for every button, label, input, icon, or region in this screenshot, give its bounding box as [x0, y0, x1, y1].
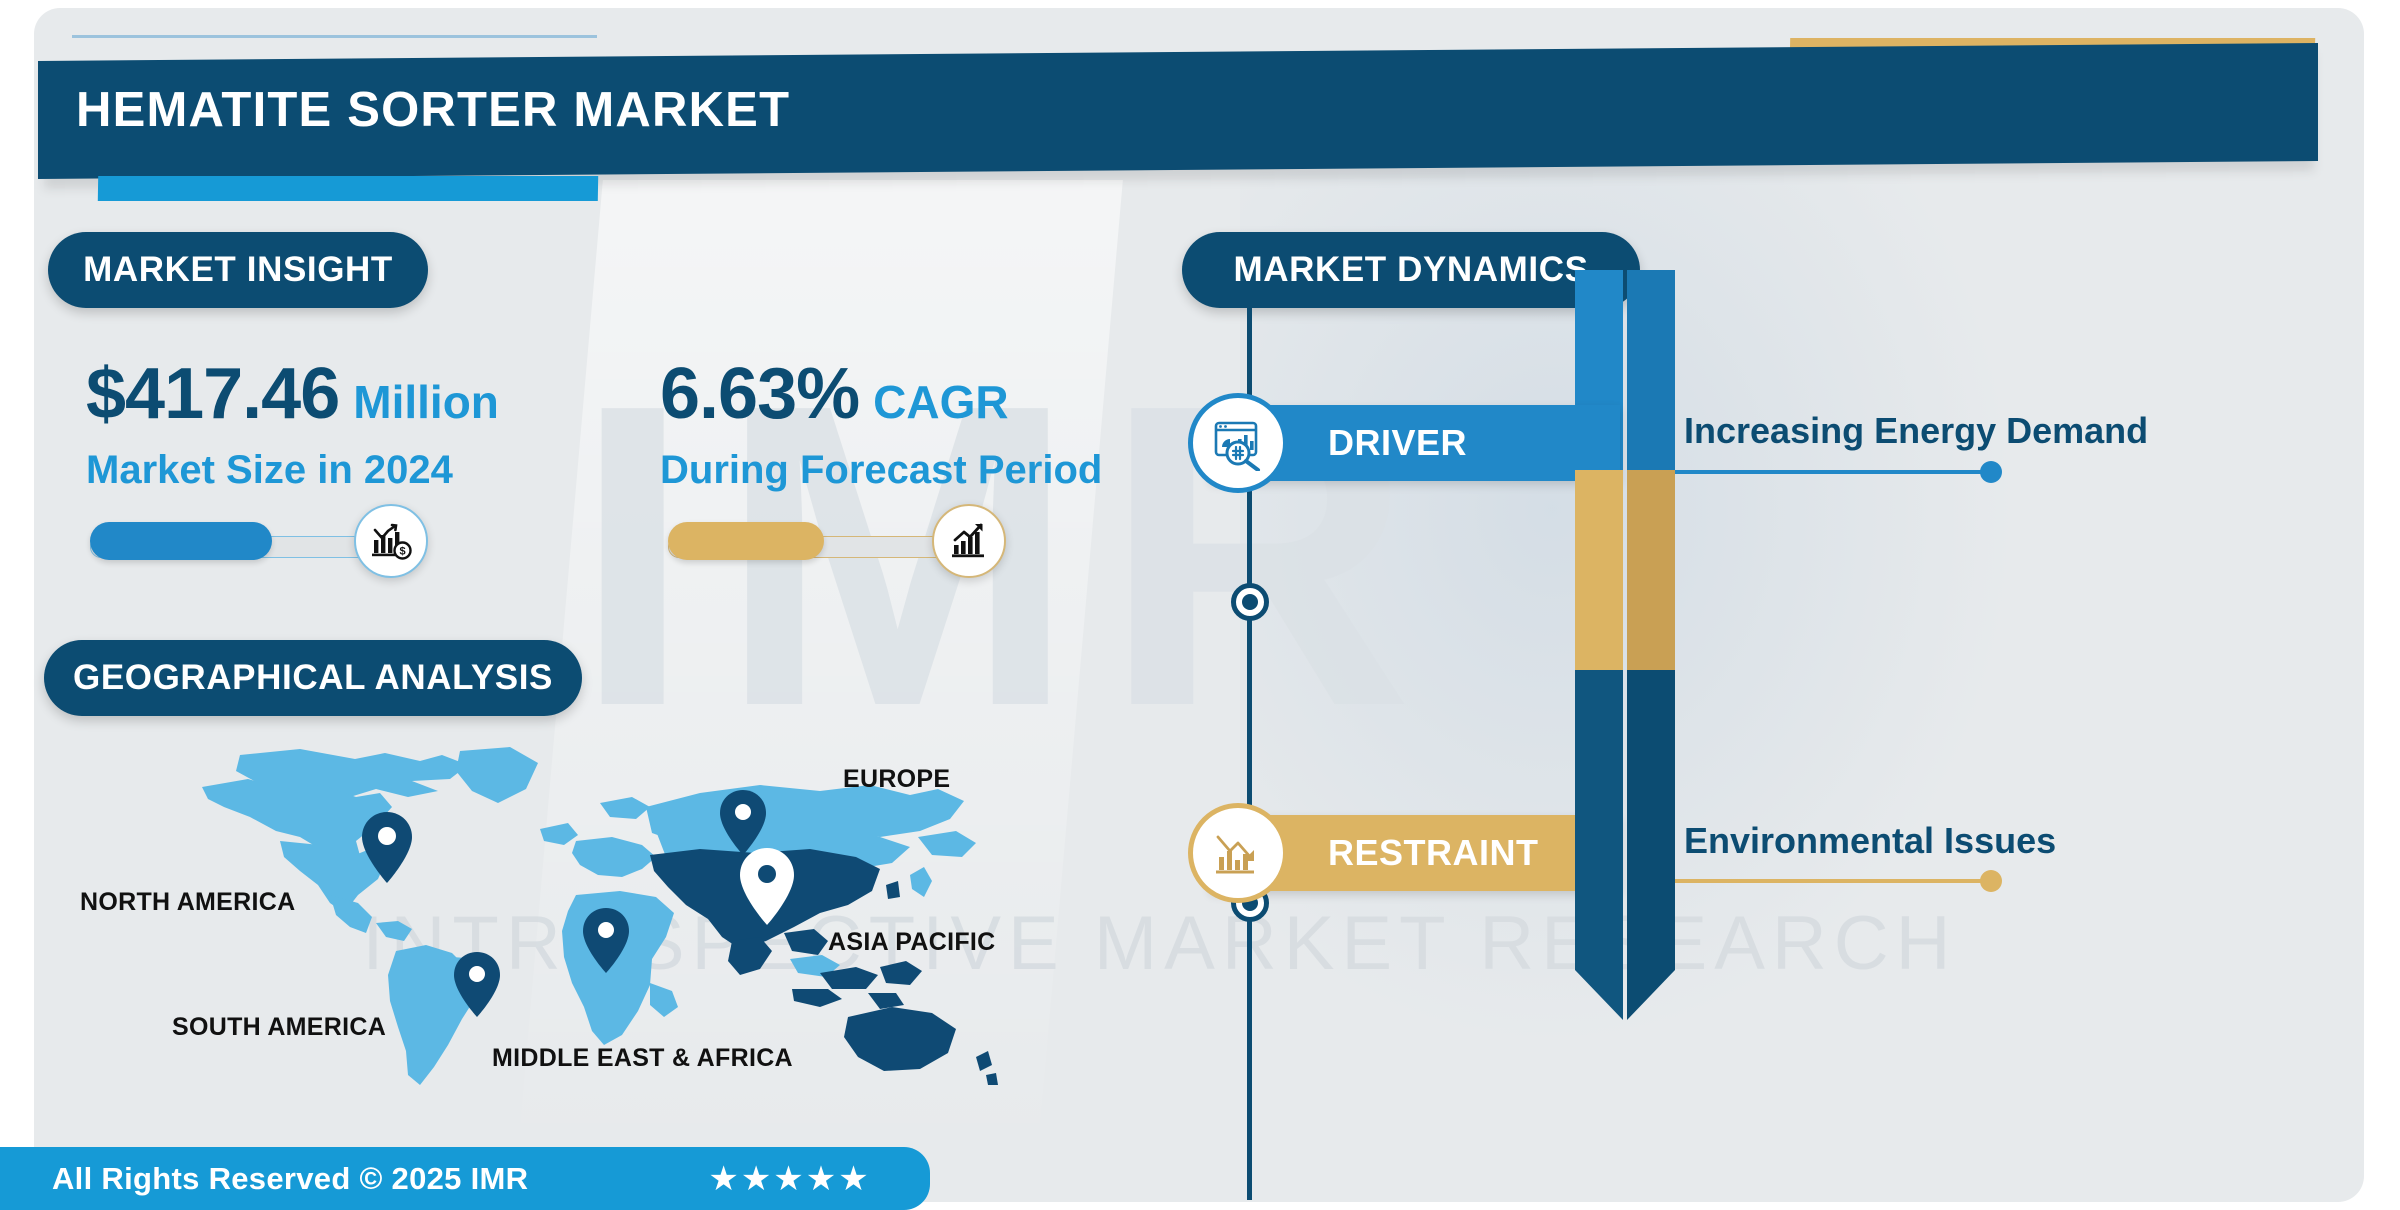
infographic-canvas: IMR INTROSPECTIVE MARKET RESEARCH HEMATI… — [0, 0, 2400, 1210]
map-label-south-america: SOUTH AMERICA — [172, 1013, 386, 1042]
header-cyan-accent — [98, 176, 598, 201]
section-pill-geographical-analysis: GEOGRAPHICAL ANALYSIS — [44, 640, 582, 716]
dynamics-row-restraint: RESTRAINT Environmental Issues — [1210, 565, 2310, 725]
map-label-europe: EUROPE — [843, 765, 950, 794]
market-size-unit: Million — [353, 375, 499, 429]
cagr-progress-fill — [668, 522, 824, 560]
map-label-asia-pacific: ASIA PACIFIC — [828, 928, 996, 957]
world-map — [180, 745, 1010, 1095]
dynamics-underline-driver — [1672, 470, 1992, 474]
footer-bar: All Rights Reserved © 2025 IMR ★★★★★ — [0, 1147, 930, 1210]
ribbon-opportunity — [1575, 670, 1675, 1025]
dynamics-label-driver: DRIVER — [1328, 422, 1467, 464]
cagr-unit: CAGR — [873, 375, 1008, 429]
market-size-caption: Market Size in 2024 — [86, 448, 499, 493]
page-title: HEMATITE SORTER MARKET — [76, 82, 790, 138]
rating-stars-icon: ★★★★★ — [708, 1159, 870, 1199]
section-pill-market-dynamics: MARKET DYNAMICS — [1182, 232, 1640, 308]
map-label-middle-east-africa: MIDDLE EAST & AFRICA — [492, 1044, 793, 1073]
stat-market-size: $417.46Million Market Size in 2024 — [86, 358, 499, 493]
cagr-caption: During Forecast Period — [660, 448, 1102, 493]
market-size-value: $417.46 — [86, 358, 339, 430]
dynamics-row-driver: DRIVER — [1210, 360, 2310, 520]
market-insight-pill-label: MARKET INSIGHT — [83, 250, 393, 290]
dynamics-text-driver: Increasing Energy Demand — [1684, 410, 2148, 452]
map-label-north-america: NORTH AMERICA — [80, 888, 295, 917]
market-dynamics-pill-label: MARKET DYNAMICS — [1233, 250, 1588, 290]
section-pill-market-insight: MARKET INSIGHT — [48, 232, 428, 308]
report-magnifier-icon — [1188, 393, 1288, 493]
header-thin-rule — [72, 35, 597, 38]
market-size-progress-fill — [90, 522, 272, 560]
bar-chart-dollar-icon: $ — [354, 504, 428, 578]
growth-arrow-chart-icon — [932, 504, 1006, 578]
copyright-text: All Rights Reserved © 2025 IMR — [52, 1161, 528, 1197]
stat-cagr: 6.63%CAGR During Forecast Period — [660, 358, 1102, 493]
geographical-analysis-pill-label: GEOGRAPHICAL ANALYSIS — [73, 658, 553, 698]
dynamics-row-opportunity: OPPORTUNITY $ Rar — [1210, 770, 2310, 930]
declining-bar-chart-icon — [1188, 803, 1288, 903]
cagr-value: 6.63% — [660, 358, 859, 430]
dynamics-endpoint-dot-driver — [1980, 461, 2002, 483]
svg-text:$: $ — [399, 545, 405, 557]
